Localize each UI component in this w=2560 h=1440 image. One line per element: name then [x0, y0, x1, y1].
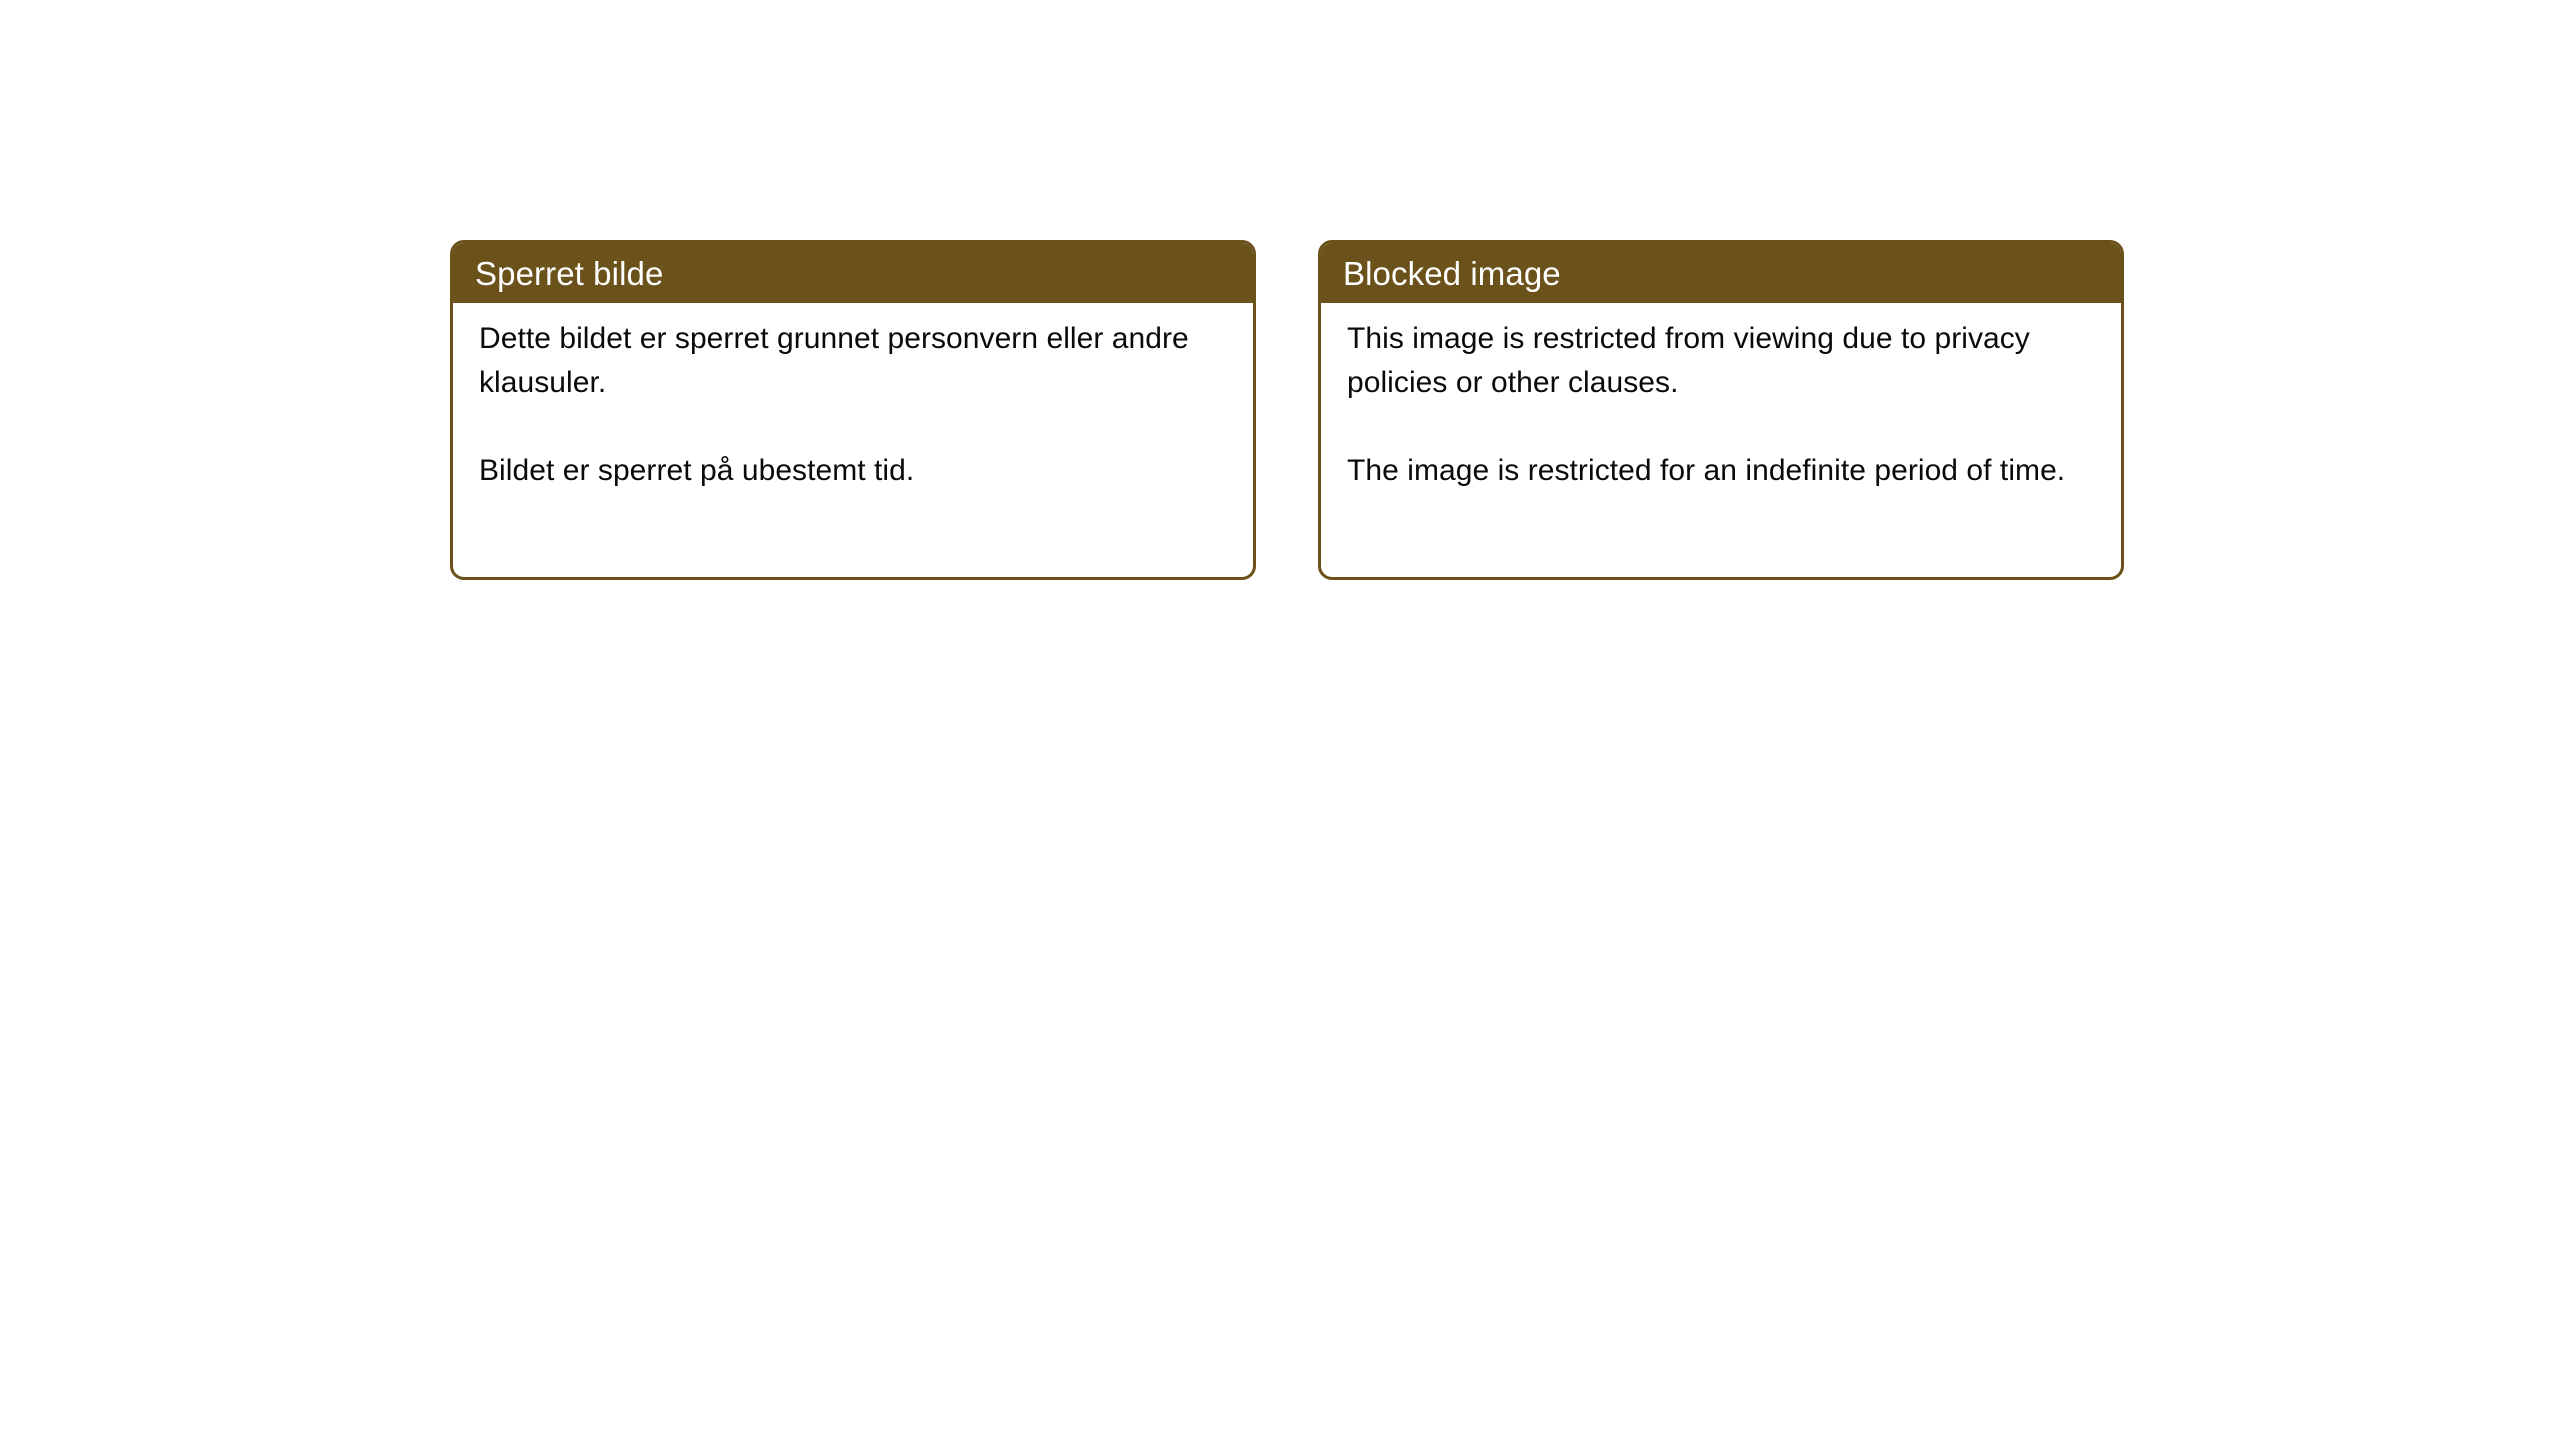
notice-header-norwegian: Sperret bilde: [453, 243, 1253, 303]
notice-title-english: Blocked image: [1343, 257, 1561, 290]
notice-paragraph-duration-norwegian: Bildet er sperret på ubestemt tid.: [479, 449, 1227, 493]
notice-title-norwegian: Sperret bilde: [475, 257, 663, 290]
blocked-image-notice-english: Blocked image This image is restricted f…: [1318, 240, 2124, 580]
notice-body-norwegian: Dette bildet er sperret grunnet personve…: [453, 303, 1253, 493]
notice-paragraph-duration-english: The image is restricted for an indefinit…: [1347, 449, 2095, 493]
paragraph-spacer: [1347, 405, 2095, 449]
notice-paragraph-reason-norwegian: Dette bildet er sperret grunnet personve…: [479, 317, 1227, 405]
page-canvas: Sperret bilde Dette bildet er sperret gr…: [0, 0, 2560, 1440]
blocked-image-notice-norwegian: Sperret bilde Dette bildet er sperret gr…: [450, 240, 1256, 580]
paragraph-spacer: [479, 405, 1227, 449]
notice-paragraph-reason-english: This image is restricted from viewing du…: [1347, 317, 2095, 405]
notice-body-english: This image is restricted from viewing du…: [1321, 303, 2121, 493]
notice-header-english: Blocked image: [1321, 243, 2121, 303]
